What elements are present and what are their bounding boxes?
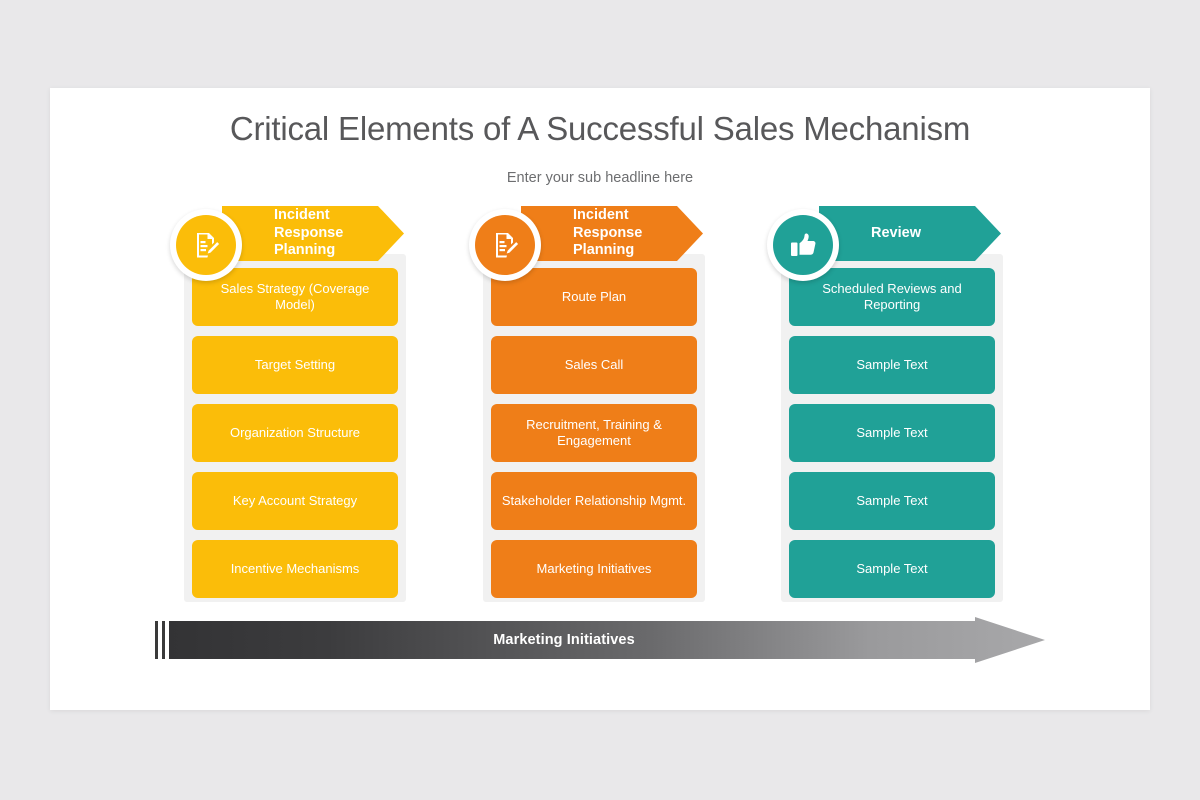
card[interactable]: Sample Text: [789, 472, 995, 530]
column-2-badge: [469, 209, 541, 281]
card[interactable]: Key Account Strategy: [192, 472, 398, 530]
column-3-header-line1: Review: [871, 225, 921, 243]
column-3-cards: Scheduled Reviews and Reporting Sample T…: [789, 268, 995, 598]
column-1-cards: Sales Strategy (Coverage Model) Target S…: [192, 268, 398, 598]
column-2-header-line1: Incident: [573, 207, 685, 225]
card[interactable]: Organization Structure: [192, 404, 398, 462]
card[interactable]: Sample Text: [789, 540, 995, 598]
column-1-header[interactable]: Incident Response Planning: [222, 206, 404, 261]
arrow-start-tick-2: [162, 621, 165, 659]
column-2-header[interactable]: Incident Response Planning: [521, 206, 703, 261]
card[interactable]: Sample Text: [789, 404, 995, 462]
card[interactable]: Sample Text: [789, 336, 995, 394]
column-1-header-line2: Response Planning: [274, 225, 386, 260]
process-arrow: Marketing Initiatives: [155, 617, 1045, 669]
card[interactable]: Target Setting: [192, 336, 398, 394]
card[interactable]: Incentive Mechanisms: [192, 540, 398, 598]
document-pen-icon: [489, 229, 521, 261]
column-3-header-label: Review: [871, 225, 921, 243]
thumbs-up-icon: [787, 229, 819, 261]
column-1-header-label: Incident Response Planning: [274, 207, 386, 260]
card[interactable]: Sales Call: [491, 336, 697, 394]
column-3-badge: [767, 209, 839, 281]
card[interactable]: Marketing Initiatives: [491, 540, 697, 598]
column-3-header[interactable]: Review: [819, 206, 1001, 261]
page-subtitle: Enter your sub headline here: [50, 170, 1150, 186]
arrow-start-tick-1: [155, 621, 158, 659]
column-2-cards: Route Plan Sales Call Recruitment, Train…: [491, 268, 697, 598]
column-1-badge: [170, 209, 242, 281]
column-2-header-line2: Response Planning: [573, 225, 685, 260]
slide-canvas: Critical Elements of A Successful Sales …: [50, 88, 1150, 710]
column-1-header-line1: Incident: [274, 207, 386, 225]
card[interactable]: Stakeholder Relationship Mgmt.: [491, 472, 697, 530]
page-title: Critical Elements of A Successful Sales …: [50, 110, 1150, 148]
document-pen-icon: [190, 229, 222, 261]
column-2-header-label: Incident Response Planning: [573, 207, 685, 260]
arrow-label: Marketing Initiatives: [169, 621, 959, 659]
card[interactable]: Recruitment, Training & Engagement: [491, 404, 697, 462]
